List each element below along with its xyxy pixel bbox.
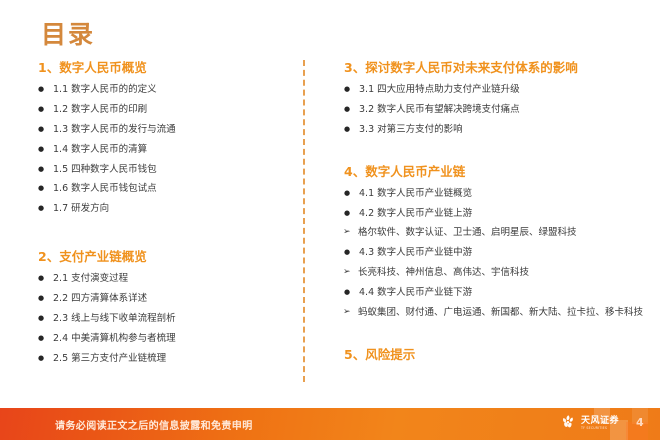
toc-item[interactable]: 3.3 对第三方支付的影响 [344, 124, 612, 136]
section-1-heading: 1、数字人民币概览 [38, 60, 306, 75]
toc-item[interactable]: 1.3 数字人民币的发行与流通 [38, 124, 306, 136]
section-spacer [344, 327, 612, 347]
section-1: 1、数字人民币概览 1.1 数字人民币的的定义 1.2 数字人民币的印刷 1.3… [38, 60, 306, 215]
logo-text: 天风证券 TF SECURITIES [581, 417, 619, 430]
toc-item[interactable]: 2.5 第三方支付产业链梳理 [38, 353, 306, 365]
toc-item[interactable]: 1.4 数字人民币的清算 [38, 144, 306, 156]
section-spacer [38, 223, 306, 249]
logo-name-cn: 天风证券 [581, 417, 619, 426]
toc-item[interactable]: 4.2 数字人民币产业链上游 [344, 208, 612, 220]
tf-securities-mark-icon [559, 414, 578, 433]
section-3-heading: 3、探讨数字人民币对未来支付体系的影响 [344, 60, 612, 75]
section-5-heading: 5、风险提示 [344, 347, 612, 362]
toc-item[interactable]: 2.1 支付演变过程 [38, 273, 306, 285]
toc-subitem[interactable]: 格尔软件、数字认证、卫士通、启明星辰、绿盟科技 [344, 227, 612, 239]
footer-bar: 请务必阅读正文之后的信息披露和免责申明 天风证券 TF SECURITIES [0, 408, 660, 440]
toc-subitem[interactable]: 蚂蚁集团、财付通、广电运通、新国都、新大陆、拉卡拉、移卡科技 [344, 307, 612, 319]
toc-item[interactable]: 1.5 四种数字人民币钱包 [38, 164, 306, 176]
toc-item[interactable]: 1.2 数字人民币的印刷 [38, 104, 306, 116]
section-3-list: 3.1 四大应用特点助力支付产业链升级 3.2 数字人民币有望解决跨境支付痛点 … [344, 84, 612, 136]
toc-item[interactable]: 3.2 数字人民币有望解决跨境支付痛点 [344, 104, 612, 116]
toc-item[interactable]: 1.7 研发方向 [38, 203, 306, 215]
section-2-list: 2.1 支付演变过程 2.2 四方清算体系详述 2.3 线上与线下收单流程剖析 … [38, 273, 306, 364]
company-logo: 天风证券 TF SECURITIES [559, 414, 619, 433]
toc-item[interactable]: 3.1 四大应用特点助力支付产业链升级 [344, 84, 612, 96]
toc-item[interactable]: 4.3 数字人民币产业链中游 [344, 247, 612, 259]
section-1-list: 1.1 数字人民币的的定义 1.2 数字人民币的印刷 1.3 数字人民币的发行与… [38, 84, 306, 215]
section-2: 2、支付产业链概览 2.1 支付演变过程 2.2 四方清算体系详述 2.3 线上… [38, 249, 306, 364]
toc-item[interactable]: 1.6 数字人民币钱包试点 [38, 183, 306, 195]
section-2-heading: 2、支付产业链概览 [38, 249, 306, 264]
disclaimer-text: 请务必阅读正文之后的信息披露和免责申明 [55, 417, 253, 432]
section-spacer [344, 144, 612, 164]
slide-canvas: 目录 1、数字人民币概览 1.1 数字人民币的的定义 1.2 数字人民币的印刷 … [0, 0, 660, 440]
toc-item[interactable]: 2.3 线上与线下收单流程剖析 [38, 313, 306, 325]
page-number: 4 [636, 416, 644, 429]
section-4: 4、数字人民币产业链 4.1 数字人民币产业链概览 4.2 数字人民币产业链上游… [344, 164, 612, 319]
toc-item[interactable]: 1.1 数字人民币的的定义 [38, 84, 306, 96]
section-5: 5、风险提示 [344, 347, 612, 362]
page-title: 目录 [41, 22, 95, 47]
toc-item[interactable]: 4.1 数字人民币产业链概览 [344, 188, 612, 200]
toc-item[interactable]: 4.4 数字人民币产业链下游 [344, 287, 612, 299]
section-4-heading: 4、数字人民币产业链 [344, 164, 612, 179]
toc-subitem[interactable]: 长亮科技、神州信息、高伟达、宇信科技 [344, 267, 612, 279]
logo-name-en: TF SECURITIES [581, 427, 619, 430]
right-column: 3、探讨数字人民币对未来支付体系的影响 3.1 四大应用特点助力支付产业链升级 … [344, 60, 612, 371]
toc-item[interactable]: 2.4 中美清算机构参与者梳理 [38, 333, 306, 345]
left-column: 1、数字人民币概览 1.1 数字人民币的的定义 1.2 数字人民币的印刷 1.3… [38, 60, 306, 373]
section-4-list: 4.1 数字人民币产业链概览 4.2 数字人民币产业链上游 格尔软件、数字认证、… [344, 188, 612, 319]
toc-item[interactable]: 2.2 四方清算体系详述 [38, 293, 306, 305]
section-3: 3、探讨数字人民币对未来支付体系的影响 3.1 四大应用特点助力支付产业链升级 … [344, 60, 612, 136]
